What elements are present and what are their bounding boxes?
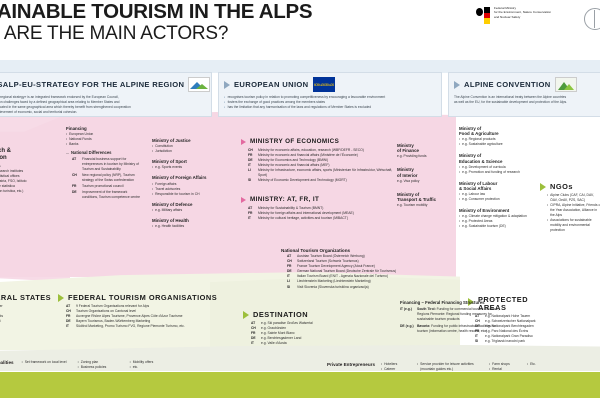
country-row: ATFinancial business support for entrepr…: [72, 157, 144, 172]
economics-title: MINISTRY OF ECONOMICS: [250, 139, 339, 146]
economics-rows: CHMinistry for economic affairs, educati…: [241, 148, 393, 183]
federal-tourism-organisations-block[interactable]: FEDERAL TOURISM ORGANISATIONS AT9 Federa…: [58, 294, 226, 329]
ministry-block: Ministry of Food & Agriculture e.g. Regi…: [459, 126, 531, 147]
eagle-icon: [476, 8, 483, 16]
list-item: Rental: [489, 367, 521, 372]
infographic-canvas: ...TAINABLE TOURISM IN THE ALPS ...O ARE…: [0, 0, 600, 400]
federal-states-title: ...DERAL STATES: [0, 294, 54, 302]
destination-header: DESTINATION: [243, 311, 353, 319]
ministry-block: Ministry of Environment e.g. Climate cha…: [459, 208, 531, 229]
triangle-icon: [224, 81, 230, 89]
research-education-block: ...earch & ...cation ...ersities ...mic …: [0, 148, 58, 194]
banner-eusalp-body: ...eral «Macroregional strategy» is an i…: [0, 95, 206, 115]
country-row: DEImprovement of the framework condition…: [72, 190, 144, 200]
ministry-block: Ministry of Education & Science e.g. Dev…: [459, 153, 531, 174]
banner-eusalp[interactable]: ...SALP-EU-STRATEGY FOR THE ALPINE REGIO…: [0, 72, 212, 117]
ministry-of-economics-block[interactable]: MINISTRY OF ECONOMICS CHMinistry for eco…: [241, 139, 393, 183]
banner-eusalp-header: ...SALP-EU-STRATEGY FOR THE ALPINE REGIO…: [0, 77, 206, 92]
destination-rows: ATe.g. Ski paradise Großes Walsertal CHe…: [243, 321, 353, 346]
banner-alpine-convention[interactable]: ALPINE CONVENTION The Alpine Convention …: [448, 72, 600, 117]
federal-states-list: Bundesländer Kantone Départements Bundes…: [0, 304, 54, 329]
banner-european-union[interactable]: EUROPEAN UNION \u2605\u2605\u2605 recogn…: [218, 72, 442, 117]
triangle-icon: [454, 81, 460, 89]
list-item: Jurisdiction: [152, 149, 238, 154]
country-row: SIVisit Slovenia (Slovenska turistična o…: [287, 285, 409, 290]
destination-title: DESTINATION: [253, 311, 308, 319]
eu-flag-icon: \u2605\u2605\u2605: [313, 77, 335, 92]
ngos-block[interactable]: NGOs Alpine Clubs (CAF, CAI, DAV, ÖAV, O…: [540, 183, 600, 233]
list-item: e.g. Promotion and funding of research: [459, 170, 531, 175]
ministries-left-column: Ministry of Justice Constitution Jurisdi…: [152, 138, 238, 229]
secondary-logo-icon: [584, 8, 600, 30]
national-differences-title: National Differences: [66, 151, 144, 156]
municipalities-title: ...nicipalities: [0, 360, 14, 365]
private-entrepreneurs-title: Private Entrepreneurs: [327, 362, 375, 367]
list-item: CIPRA, Alpine Initiative, Friends of the…: [547, 203, 600, 218]
list-item: Regioni: [0, 324, 54, 329]
country-row: DE (e.g.) Bavaria: Funding for public in…: [400, 324, 500, 334]
ngos-title: NGOs: [550, 183, 573, 191]
country-row: FRTourism promotional council: [72, 184, 144, 189]
ministry-logo-text: Federal Ministry for the Environment, Na…: [494, 6, 586, 19]
ministry-note: e.g. Providing funds: [397, 154, 451, 159]
ngos-header: NGOs: [540, 183, 600, 191]
list-item: Responsible for tourism in CH: [152, 192, 238, 197]
research-education-title: ...earch & ...cation: [0, 148, 58, 162]
banner-eusalp-title: ...SALP-EU-STRATEGY FOR THE ALPINE REGIO…: [0, 80, 184, 89]
municipalities-group-1: Set framework on local level: [22, 360, 70, 365]
federal-tourism-header: FEDERAL TOURISM ORGANISATIONS: [58, 294, 226, 302]
list-item: Associations for sustainable mobility an…: [547, 218, 600, 233]
page-title: ...TAINABLE TOURISM IN THE ALPS: [0, 2, 440, 23]
list-item: e.g. Sports events: [152, 165, 238, 170]
ministry-block: Ministry of Transport & Traffic e.g. Tou…: [397, 192, 451, 208]
alpine-convention-logo-icon: [555, 77, 577, 92]
page-subtitle: ...O ARE THE MAIN ACTORS?: [0, 24, 440, 43]
list-item: Banks: [66, 142, 144, 147]
triangle-icon: [58, 294, 64, 302]
ministries-right-column: Ministry of Food & Agriculture e.g. Regi…: [459, 126, 531, 229]
destination-block[interactable]: DESTINATION ATe.g. Ski paradise Großes W…: [243, 311, 353, 346]
list-item: Etc.: [527, 362, 547, 367]
list-item: Service provider for leisure activities …: [417, 362, 483, 372]
ministries-mid-column: Ministry of Finance e.g. Providing funds…: [397, 143, 451, 208]
national-tourism-rows: ATAustrian Tourism Board (Österreich Wer…: [281, 254, 409, 289]
at-fr-it-title: MINISTRY: AT, FR, IT: [250, 197, 319, 204]
list-item: Set framework on local level: [22, 360, 70, 365]
list-item: e.g. Health facilities: [152, 224, 238, 229]
list-item: e.g. Military affairs: [152, 208, 238, 213]
financing-federal-block: Financing – Federal Financing Structures…: [400, 300, 500, 334]
list-item: Caterer: [381, 367, 411, 372]
country-row: SIe.g. Triglavski narodni park: [475, 339, 598, 344]
ministry-block: Ministry of Foreign Affairs Foreign affa…: [152, 175, 238, 196]
ministry-block: Ministry of Labour & Social Affairs e.g.…: [459, 181, 531, 202]
federal-states-block[interactable]: ...DERAL STATES Bundesländer Kantone Dép…: [0, 294, 54, 329]
private-group-4: Etc.: [527, 362, 547, 367]
at-fr-it-rows: ATMinistry for Sustainability & Tourism …: [241, 206, 393, 221]
banner-alpine-header: ALPINE CONVENTION: [454, 77, 600, 92]
triangle-icon: [540, 183, 546, 191]
banner-alpine-title: ALPINE CONVENTION: [464, 80, 551, 89]
list-item: etc.: [130, 365, 174, 370]
ministry-line-3: and Nuclear Safety: [494, 15, 586, 19]
ministry-note: e.g. Tourism mobility: [397, 203, 451, 208]
federal-ministry-logo: Federal Ministry for the Environment, Na…: [484, 6, 596, 32]
eusalp-logo-icon: [188, 77, 210, 92]
federal-tourism-rows: AT9 Federal Tourism Organisations releva…: [58, 304, 226, 329]
ministry-block: Ministry of Interior e.g. Visa policy: [397, 167, 451, 183]
ministry-block: Ministry of Finance e.g. Providing funds: [397, 143, 451, 159]
federal-tourism-title: FEDERAL TOURISM ORGANISATIONS: [68, 294, 217, 302]
national-tourism-organizations-block: National Tourism Organizations ATAustria…: [281, 248, 409, 290]
municipalities-group-2: Zoning plan Business policies: [78, 360, 122, 370]
list-item: e.g. Sustainable agriculture: [459, 142, 531, 147]
country-row: ITe.g. Valle d'Aosta: [251, 341, 353, 346]
list-item: Alpine Clubs (CAF, CAI, DAV, ÖAV, OeAV, …: [547, 193, 600, 203]
country-row: ITSüdtirol Marketing, Promo Turismo FVG,…: [66, 324, 226, 329]
national-tourism-title: National Tourism Organizations: [281, 248, 409, 253]
ngos-list: Alpine Clubs (CAF, CAI, DAV, ÖAV, OeAV, …: [540, 193, 600, 233]
ministry-block: Ministry of Defence e.g. Military affair…: [152, 202, 238, 213]
private-group-1: Hoteliers Caterer: [381, 362, 411, 372]
banner-line: ...uting to achievement of economic, soc…: [0, 110, 206, 115]
municipalities-group-3: Mobility offers etc.: [130, 360, 174, 370]
financing-federal-title: Financing – Federal Financing Structures: [400, 300, 500, 305]
german-flag-icon: [484, 7, 490, 24]
list-item: e.g. Sustainable tourism (DE): [459, 224, 531, 229]
private-entrepreneurs-row: Private Entrepreneurs Hoteliers Caterer …: [327, 362, 597, 372]
banner-eu-body: recognises tourism policy in relation to…: [224, 95, 436, 110]
list-item: ...istración turística, etc.): [0, 189, 58, 194]
ministry-note: e.g. Visa policy: [397, 179, 451, 184]
country-row: IT (e.g.) South Tirol: Funding for comme…: [400, 307, 500, 322]
banner-bullet: has the limitation that any harmonisatio…: [224, 105, 436, 110]
financing-block: Financing European Union National Funds …: [66, 126, 144, 200]
list-item: Business policies: [78, 365, 122, 370]
banner-line: as well as the EU, for the sustainable d…: [454, 100, 600, 105]
private-group-2: Service provider for leisure activities …: [417, 362, 483, 372]
triangle-icon: [241, 139, 246, 145]
triangle-icon: [241, 197, 246, 203]
ministry-block: Ministry of Justice Constitution Jurisdi…: [152, 138, 238, 154]
footer-green-bar: [0, 372, 600, 398]
list-item: e.g. Consumer protection: [459, 197, 531, 202]
ministry-at-fr-it-block[interactable]: MINISTRY: AT, FR, IT ATMinistry for Sust…: [241, 197, 393, 221]
banner-alpine-body: The Alpine Convention is an internationa…: [454, 95, 600, 105]
country-row: LIMinistry for Infrastructure, economic …: [248, 168, 393, 178]
ministry-block: Ministry of Health e.g. Health facilitie…: [152, 218, 238, 229]
municipalities-row: ...nicipalities Set framework on local l…: [0, 360, 276, 370]
ministry-block: Ministry of Sport e.g. Sports events: [152, 159, 238, 170]
financing-title: Financing: [66, 126, 144, 131]
banner-eu-header: EUROPEAN UNION \u2605\u2605\u2605: [224, 77, 436, 92]
country-row: CHNew regional policy (NRP), Tourism str…: [72, 173, 144, 183]
private-group-3: Farm shops Rental: [489, 362, 521, 372]
banner-eu-title: EUROPEAN UNION: [234, 80, 309, 89]
country-row: ITMinistry for cultural heritage, activi…: [248, 216, 393, 221]
country-row: SIMinistry of Economic Development and T…: [248, 178, 393, 183]
economics-header: MINISTRY OF ECONOMICS: [241, 139, 393, 146]
triangle-icon: [243, 311, 249, 319]
at-fr-it-header: MINISTRY: AT, FR, IT: [241, 197, 393, 204]
